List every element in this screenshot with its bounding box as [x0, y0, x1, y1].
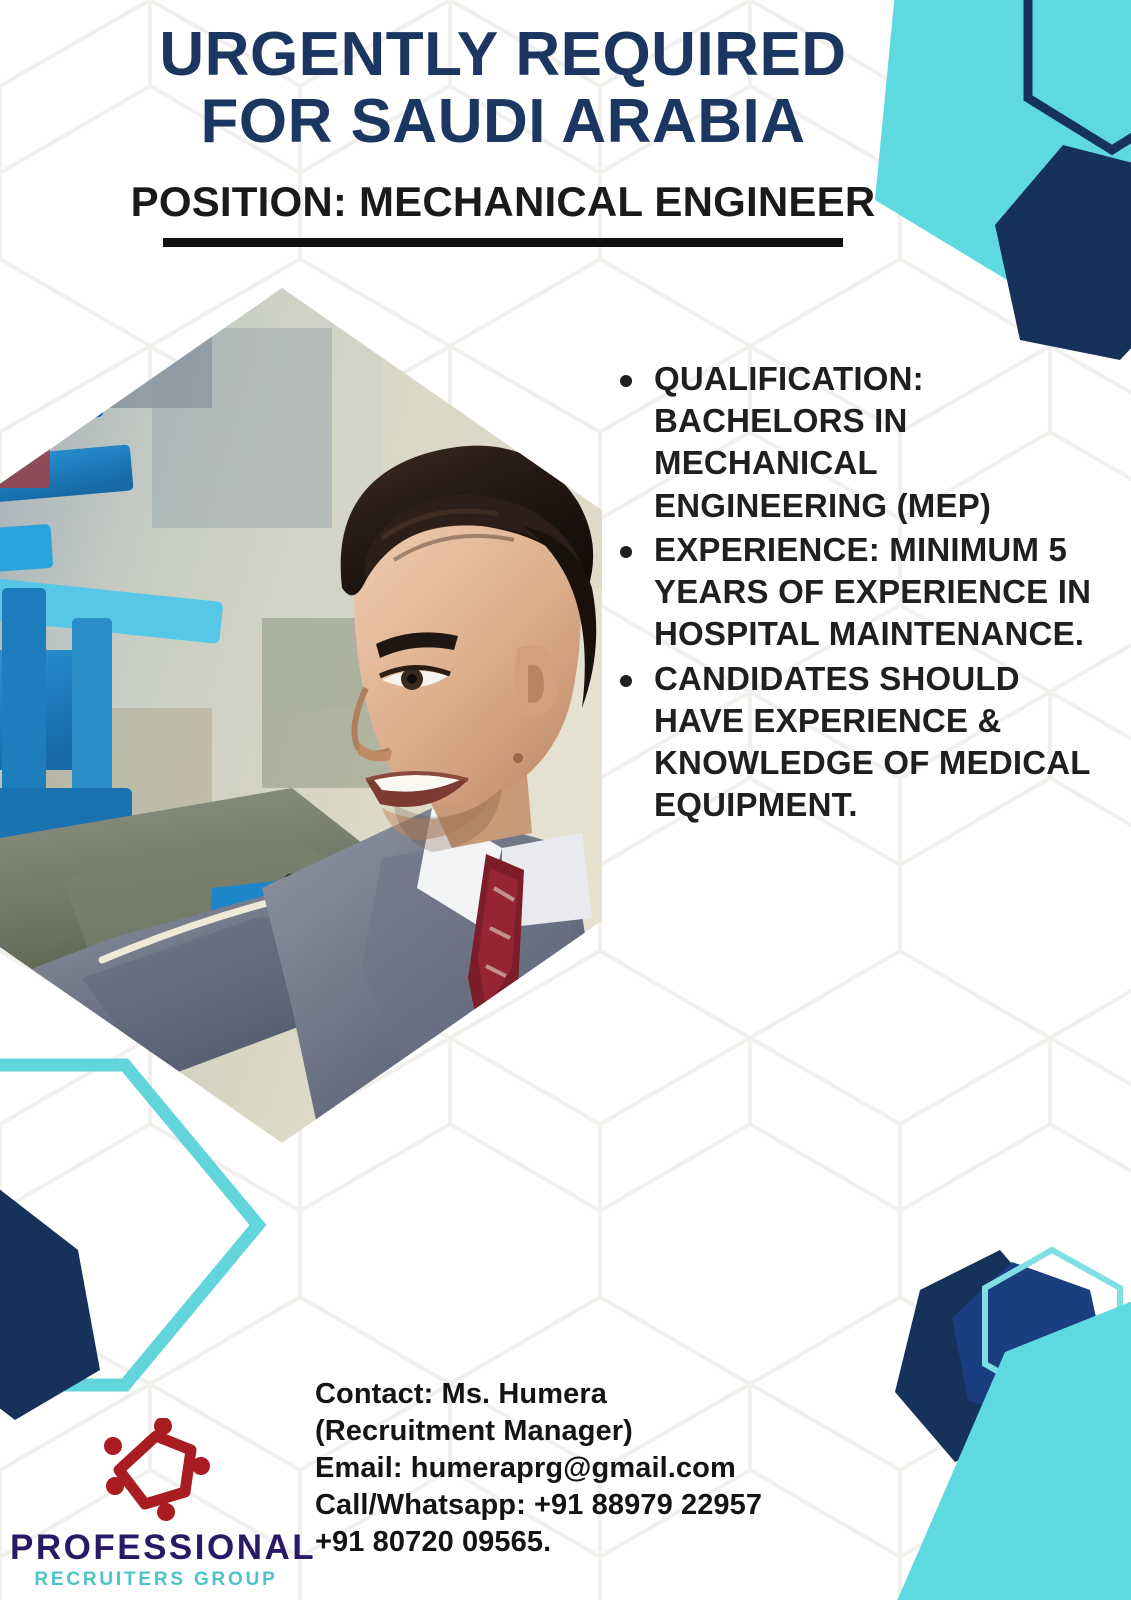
subtitle-underline-rule — [163, 238, 843, 247]
bullet-icon — [620, 546, 632, 558]
headline-line-1: URGENTLY REQUIRED — [88, 22, 918, 87]
logo-tagline: RECRUITERS GROUP — [10, 1570, 302, 1589]
bullet-icon — [620, 375, 632, 387]
hex-top-right-navy-solid — [995, 145, 1131, 360]
contact-person: Contact: Ms. Humera — [315, 1376, 915, 1413]
hex-bottom-right-navy-b — [952, 1262, 1108, 1428]
requirement-item: CANDIDATES SHOULD HAVE EXPERIENCE & KNOW… — [620, 658, 1100, 827]
poster-header: URGENTLY REQUIRED FOR SAUDI ARABIA POSIT… — [88, 22, 918, 247]
requirement-item: QUALIFICATION: BACHELORS IN MECHANICAL E… — [620, 358, 1100, 527]
hex-top-right-outline-navy — [1028, 0, 1131, 150]
hex-bottom-right-outline-turquoise — [985, 1250, 1120, 1402]
contact-block: Contact: Ms. Humera (Recruitment Manager… — [315, 1376, 915, 1562]
contact-phone-primary[interactable]: Call/Whatsapp: +91 88979 22957 — [315, 1487, 915, 1524]
requirement-text: QUALIFICATION: BACHELORS IN MECHANICAL E… — [654, 358, 1100, 527]
position-subtitle: POSITION: MECHANICAL ENGINEER — [88, 178, 918, 226]
requirements-list: QUALIFICATION: BACHELORS IN MECHANICAL E… — [620, 358, 1100, 829]
star-people-logo-icon — [81, 1418, 231, 1528]
requirement-text: EXPERIENCE: MINIMUM 5 YEARS OF EXPERIENC… — [654, 529, 1100, 656]
hex-bottom-right-navy-a — [895, 1250, 1060, 1462]
company-logo: PROFESSIONAL RECRUITERS GROUP — [10, 1418, 302, 1589]
engineer-photo-hexagon — [0, 288, 602, 1143]
hex-bottom-left-outline-turquoise — [0, 1065, 258, 1385]
engineer-photo — [0, 288, 602, 1143]
contact-phone-secondary[interactable]: +91 80720 09565. — [315, 1524, 915, 1561]
requirement-item: EXPERIENCE: MINIMUM 5 YEARS OF EXPERIENC… — [620, 529, 1100, 656]
headline-line-2: FOR SAUDI ARABIA — [88, 89, 918, 154]
contact-role: (Recruitment Manager) — [315, 1413, 915, 1450]
requirement-text: CANDIDATES SHOULD HAVE EXPERIENCE & KNOW… — [654, 658, 1100, 827]
hex-bottom-right-turquoise-large — [893, 1300, 1131, 1600]
recruitment-poster: URGENTLY REQUIRED FOR SAUDI ARABIA POSIT… — [0, 0, 1131, 1600]
logo-company-name: PROFESSIONAL — [10, 1530, 302, 1565]
bullet-icon — [620, 675, 632, 687]
hex-bottom-left-navy-solid — [0, 1185, 100, 1420]
contact-email[interactable]: Email: humeraprg@gmail.com — [315, 1450, 915, 1487]
